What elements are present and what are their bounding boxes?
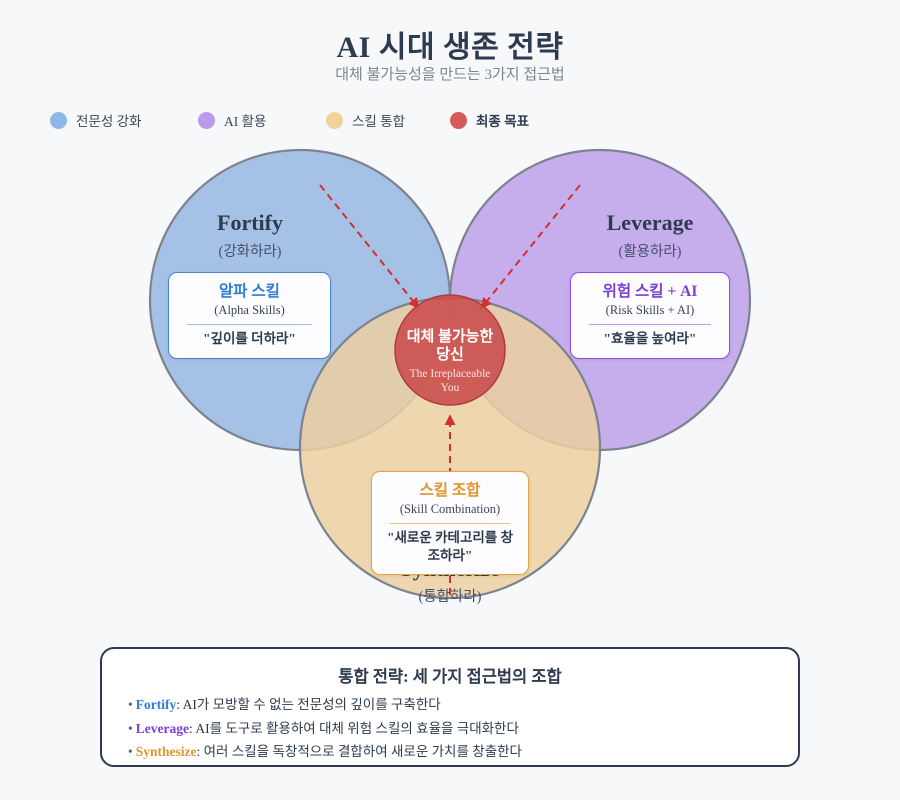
core-label-ko-line2: 당신: [436, 345, 464, 363]
legend-item-synthesize: 스킬 통합: [326, 110, 405, 130]
card-quote: "효율을 높여라": [583, 330, 717, 348]
legend-label: 전문성 강화: [76, 110, 141, 130]
summary-text: AI를 도구로 활용하여 대체 위험 스킬의 효율을 극대화한다: [193, 721, 519, 736]
legend-item-fortify: 전문성 강화: [50, 110, 141, 130]
summary-line-leverage: •Leverage: AI를 도구로 활용하여 대체 위험 스킬의 효율을 극대…: [128, 722, 772, 736]
core-label-en-line2: You: [441, 382, 460, 394]
legend-dot-icon: [198, 112, 215, 129]
card-fortify: 알파 스킬 (Alpha Skills) "깊이를 더하라": [168, 272, 331, 359]
circle-title-leverage: Leverage: [607, 210, 694, 235]
bullet-icon: •: [128, 721, 133, 736]
legend-dot-icon: [326, 112, 343, 129]
legend-item-leverage: AI 활용: [198, 110, 266, 130]
legend-dot-icon: [50, 112, 67, 129]
card-divider: [589, 324, 711, 325]
summary-text: AI가 모방할 수 없는 전문성의 깊이를 구축한다: [180, 697, 441, 712]
summary-box: 통합 전략: 세 가지 접근법의 조합 •Fortify: AI가 모방할 수 …: [100, 647, 800, 767]
legend-label: AI 활용: [224, 110, 266, 130]
legend-dot-icon: [450, 112, 467, 129]
bullet-icon: •: [128, 697, 133, 712]
page-title: AI 시대 생존 전략: [0, 22, 900, 66]
card-english: (Alpha Skills): [181, 303, 318, 318]
summary-line-fortify: •Fortify: AI가 모방할 수 없는 전문성의 깊이를 구축한다: [128, 698, 772, 712]
card-synthesize: 스킬 조합 (Skill Combination) "새로운 카테고리를 창조하…: [371, 471, 529, 575]
card-title: 위험 스킬 + AI: [583, 282, 717, 301]
summary-text: 여러 스킬을 독창적으로 결합하여 새로운 가치를 창출한다: [200, 744, 522, 759]
summary-keyword: Synthesize: [136, 744, 197, 759]
circle-title-fortify: Fortify: [217, 210, 283, 235]
card-english: (Risk Skills + AI): [583, 303, 717, 318]
summary-keyword: Fortify: [136, 697, 176, 712]
summary-keyword: Leverage: [136, 721, 189, 736]
card-english: (Skill Combination): [384, 502, 516, 517]
core-label-ko-line1: 대체 불가능한: [407, 328, 494, 345]
card-quote: "새로운 카테고리를 창조하라": [384, 529, 516, 564]
core-label-en-line1: The Irreplaceable: [410, 368, 491, 380]
circle-subtitle-fortify: (강화하라): [218, 243, 281, 260]
legend-label: 최종 목표: [476, 110, 529, 130]
summary-line-synthesize: •Synthesize: 여러 스킬을 독창적으로 결합하여 새로운 가치를 창…: [128, 745, 772, 759]
card-title: 스킬 조합: [384, 481, 516, 500]
card-title: 알파 스킬: [181, 282, 318, 301]
legend-label: 스킬 통합: [352, 110, 405, 130]
circle-subtitle-leverage: (활용하라): [618, 243, 681, 260]
card-divider: [187, 324, 312, 325]
legend: 전문성 강화 AI 활용 스킬 통합 최종 목표: [50, 110, 850, 132]
legend-item-goal: 최종 목표: [450, 110, 529, 130]
bullet-icon: •: [128, 744, 133, 759]
summary-title: 통합 전략: 세 가지 접근법의 조합: [128, 663, 772, 687]
card-leverage: 위험 스킬 + AI (Risk Skills + AI) "효율을 높여라": [570, 272, 730, 359]
page-subtitle: 대체 불가능성을 만드는 3가지 접근법: [0, 63, 900, 84]
card-quote: "깊이를 더하라": [181, 330, 318, 348]
infographic-page: AI 시대 생존 전략 대체 불가능성을 만드는 3가지 접근법 전문성 강화 …: [0, 0, 900, 800]
card-divider: [390, 523, 510, 524]
